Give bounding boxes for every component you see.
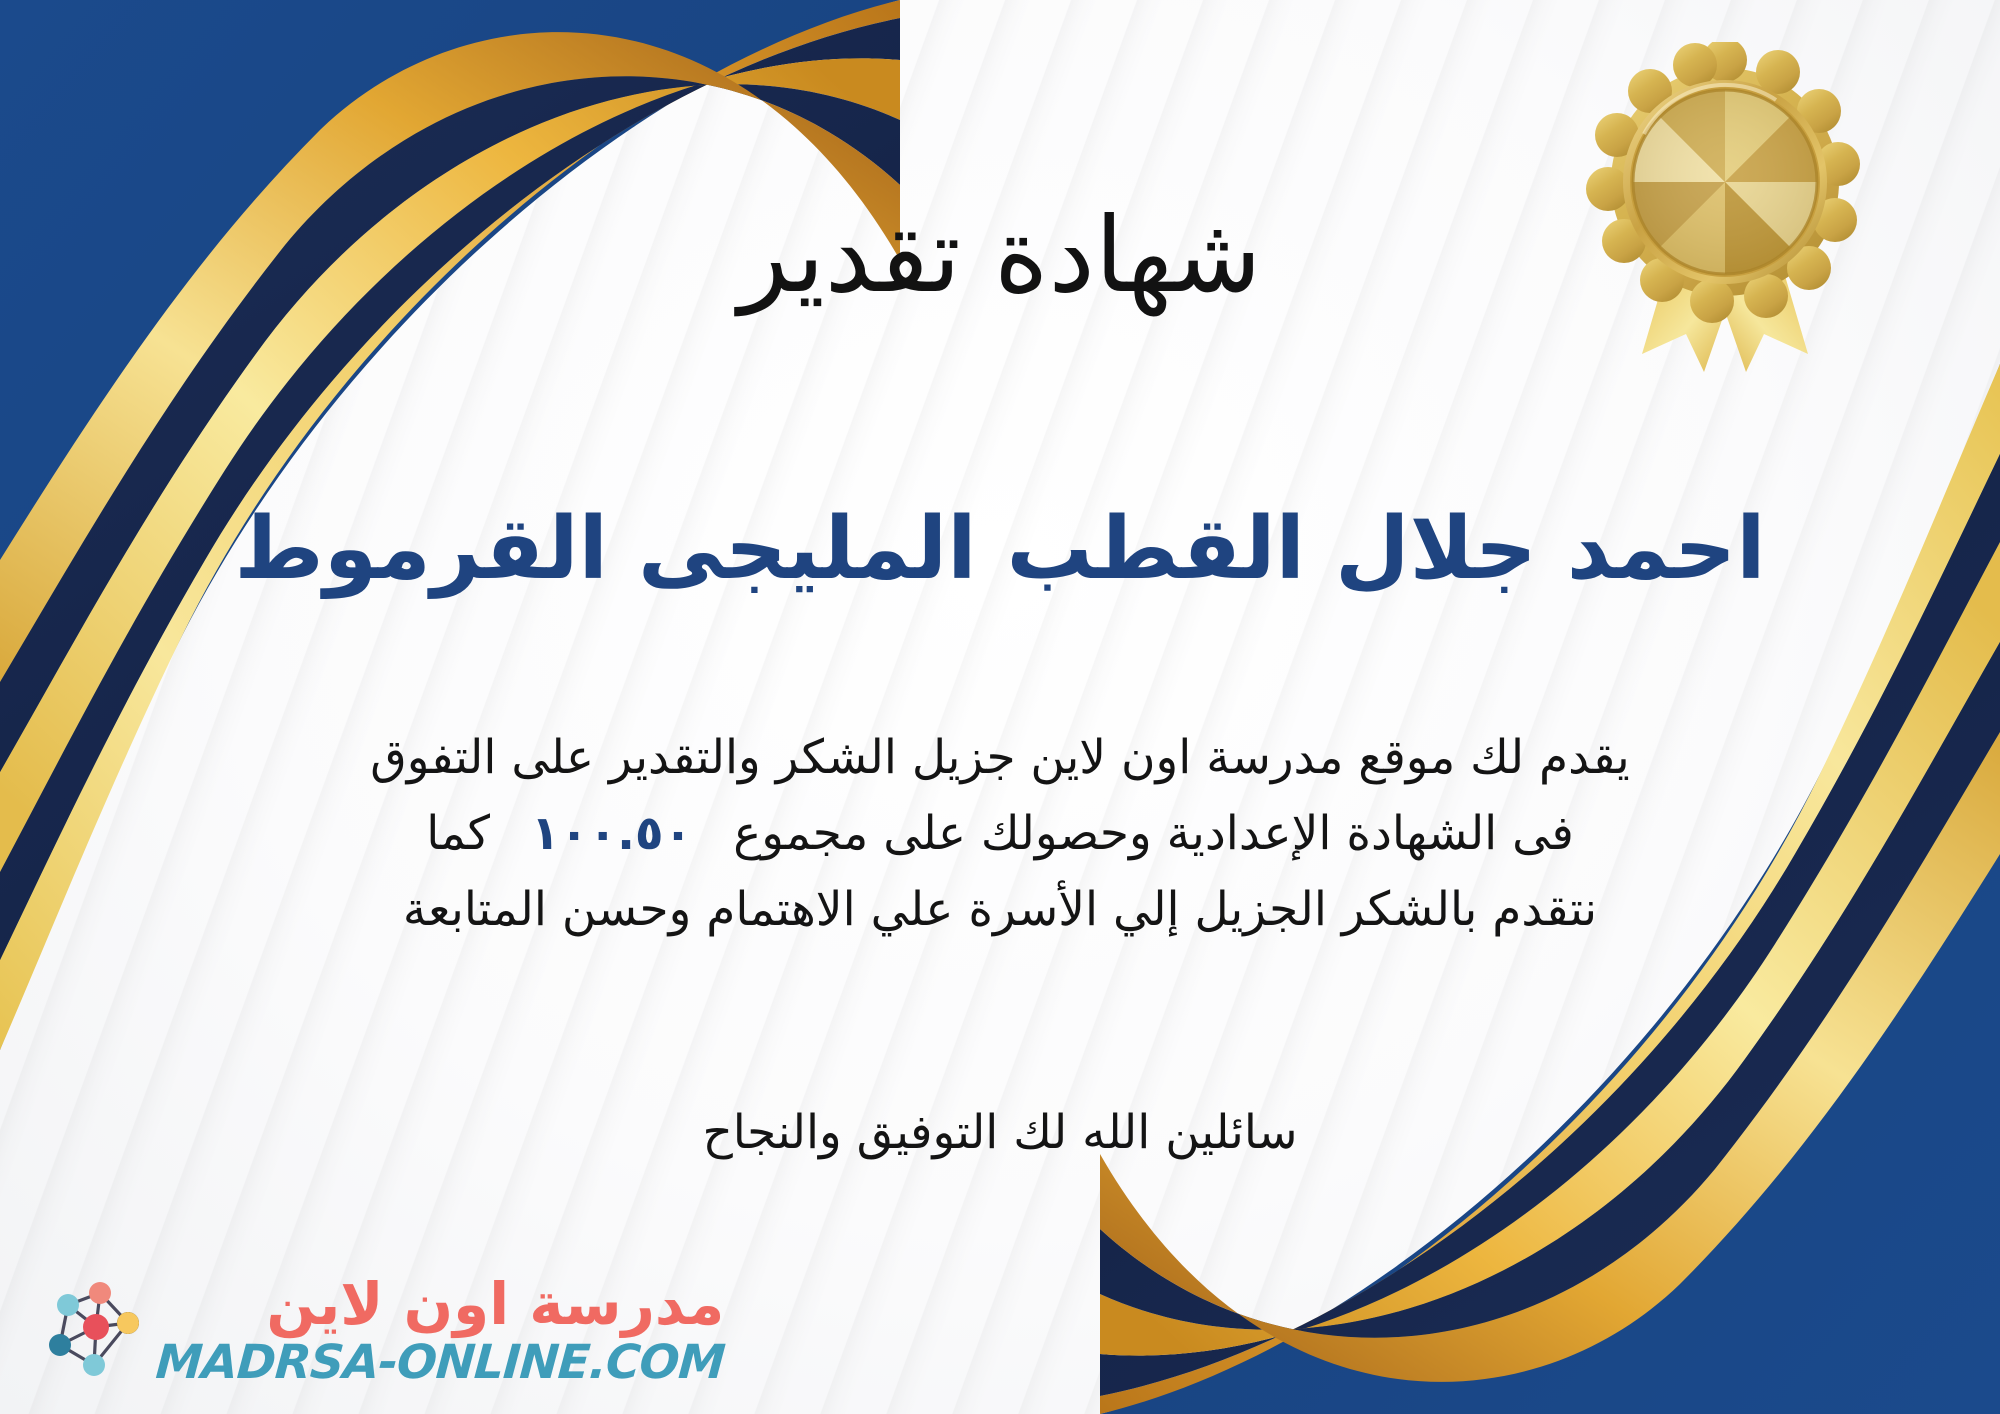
brand-website: MADRSA-ONLINE.COM [154,1339,726,1386]
brand-logo[interactable]: مدرسة اون لاين MADRSA-ONLINE.COM [38,1275,724,1386]
certificate-canvas: شهادة تقدير احمد جلال القطب المليجى القر… [0,0,2000,1414]
score-value: ١٠٠.٥٠ [505,806,718,861]
certificate-title: شهادة تقدير [0,198,2000,312]
network-nodes-icon [38,1279,142,1383]
brand-arabic-name: مدرسة اون لاين [266,1275,724,1333]
closing-line: سائلين الله لك التوفيق والنجاح [0,1098,2000,1169]
certificate-body: يقدم لك موقع مدرسة اون لاين جزيل الشكر و… [90,720,1910,948]
brand-text: مدرسة اون لاين MADRSA-ONLINE.COM [156,1275,724,1386]
body-line-3: نتقدم بالشكر الجزيل إلي الأسرة علي الاهت… [90,872,1910,948]
body-line-1: يقدم لك موقع مدرسة اون لاين جزيل الشكر و… [90,720,1910,796]
body-line-2-left: كما [426,806,490,861]
body-line-2-right: فى الشهادة الإعدادية وحصولك على مجموع [733,806,1574,861]
certificate-content: شهادة تقدير احمد جلال القطب المليجى القر… [0,0,2000,1414]
body-line-2: فى الشهادة الإعدادية وحصولك على مجموع ١٠… [90,796,1910,872]
recipient-name: احمد جلال القطب المليجى القرموط [0,500,2000,599]
